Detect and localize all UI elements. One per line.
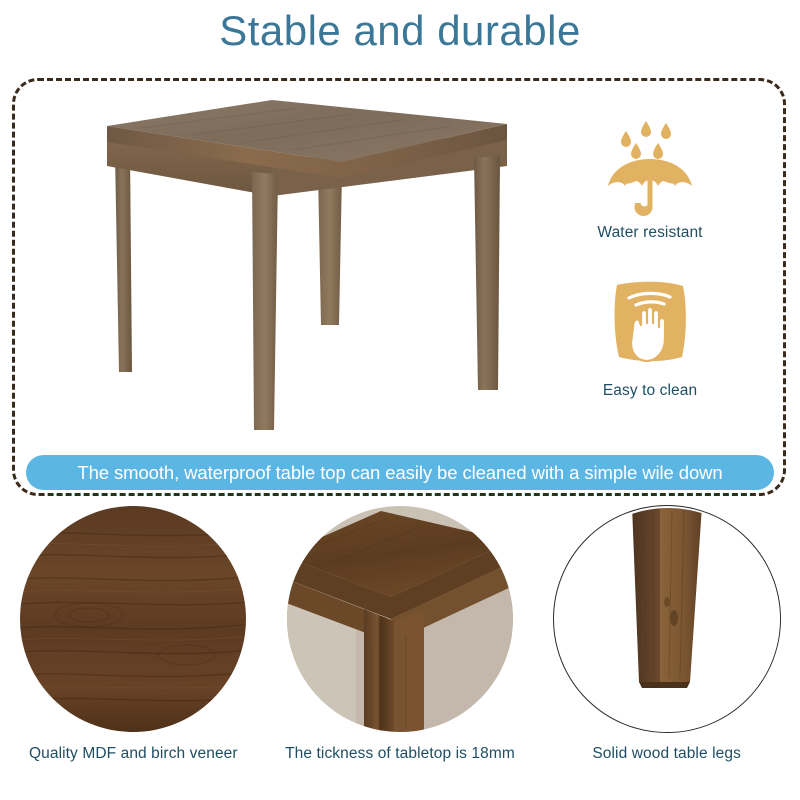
detail-image-wood-grain: [19, 505, 247, 733]
product-table-image: [82, 100, 532, 445]
feature-list: Water resistant: [560, 110, 740, 426]
detail-item-thickness: The tickness of tabletop is 18mm: [275, 505, 525, 763]
detail-image-table-leg: [553, 505, 781, 733]
highlight-banner-text: The smooth, waterproof table top can eas…: [77, 462, 722, 484]
feature-easy-to-clean: Easy to clean: [560, 268, 740, 400]
umbrella-rain-icon: [560, 110, 740, 220]
highlight-banner: The smooth, waterproof table top can eas…: [26, 455, 774, 490]
feature-water-resistant: Water resistant: [560, 110, 740, 242]
hand-wiping-cloth-icon: [560, 268, 740, 378]
page-title: Stable and durable: [0, 8, 800, 54]
feature-label-easy-to-clean: Easy to clean: [560, 382, 740, 400]
detail-gallery: Quality MDF and birch veneer: [0, 505, 800, 795]
detail-item-legs: Solid wood table legs: [542, 505, 792, 763]
detail-caption-thickness: The tickness of tabletop is 18mm: [275, 745, 525, 763]
detail-item-veneer: Quality MDF and birch veneer: [8, 505, 258, 763]
detail-image-corner-edge: [286, 505, 514, 733]
detail-caption-legs: Solid wood table legs: [542, 745, 792, 763]
feature-label-water-resistant: Water resistant: [560, 224, 740, 242]
detail-caption-veneer: Quality MDF and birch veneer: [8, 745, 258, 763]
